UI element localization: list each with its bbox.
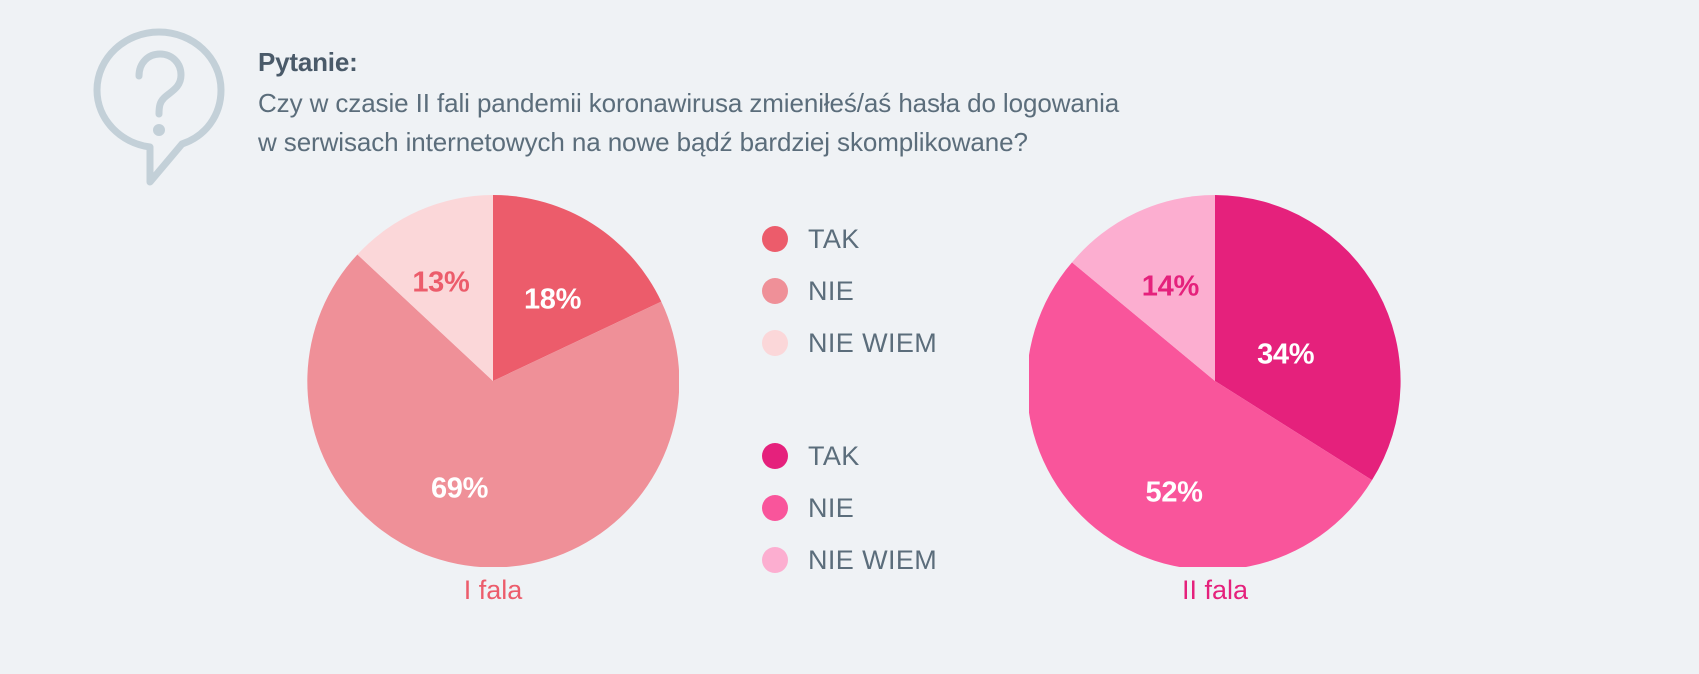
- legend-swatch-icon: [762, 547, 788, 573]
- pie-caption-wave-1: I fala: [307, 575, 679, 606]
- question-speech-bubble-icon: [86, 26, 232, 188]
- legend-swatch-icon: [762, 495, 788, 521]
- pie-value-nie-wave-1: 69%: [431, 473, 488, 506]
- legend-label: TAK: [808, 441, 860, 472]
- legend-item-nie-wave-2[interactable]: NIE: [762, 482, 937, 534]
- legend-item-tak-wave-2[interactable]: TAK: [762, 430, 937, 482]
- legend-label: TAK: [808, 224, 860, 255]
- legend-swatch-icon: [762, 226, 788, 252]
- legend-label: NIE: [808, 493, 854, 524]
- legend-label: NIE WIEM: [808, 545, 937, 576]
- pie-value-niewiem-wave-1: 13%: [412, 267, 469, 300]
- pie-svg-wave-1: [307, 195, 679, 567]
- legend-swatch-icon: [762, 330, 788, 356]
- pie-svg-wave-2: [1029, 195, 1401, 567]
- legend-item-tak-wave-1[interactable]: TAK: [762, 213, 937, 265]
- question-block: Pytanie: Czy w czasie II fali pandemii k…: [0, 0, 1699, 200]
- question-label: Pytanie:: [258, 44, 1508, 80]
- legend-item-niewiem-wave-1[interactable]: NIE WIEM: [762, 317, 937, 369]
- pie-value-niewiem-wave-2: 14%: [1142, 271, 1199, 304]
- pie-value-tak-wave-1: 18%: [524, 284, 581, 317]
- legend-label: NIE WIEM: [808, 328, 937, 359]
- legend-item-nie-wave-1[interactable]: NIE: [762, 265, 937, 317]
- legend-label: NIE: [808, 276, 854, 307]
- legend-wave-1: TAK NIE NIE WIEM: [762, 213, 937, 369]
- question-text: Czy w czasie II fali pandemii koronawiru…: [258, 84, 1508, 162]
- pie-chart-wave-2: 34% 52% 14% II fala: [1029, 195, 1401, 615]
- legend-wave-2: TAK NIE NIE WIEM: [762, 430, 937, 586]
- pie-chart-wave-1: 18% 69% 13% I fala: [307, 195, 679, 615]
- pie-value-tak-wave-2: 34%: [1257, 338, 1314, 371]
- legend-item-niewiem-wave-2[interactable]: NIE WIEM: [762, 534, 937, 586]
- pie-value-nie-wave-2: 52%: [1146, 477, 1203, 510]
- question-text-wrap: Pytanie: Czy w czasie II fali pandemii k…: [258, 44, 1508, 162]
- legend-swatch-icon: [762, 278, 788, 304]
- charts-area: 18% 69% 13% I fala TAK NIE NIE WIEM TAK …: [0, 195, 1699, 674]
- pie-caption-wave-2: II fala: [1029, 575, 1401, 606]
- legend-swatch-icon: [762, 443, 788, 469]
